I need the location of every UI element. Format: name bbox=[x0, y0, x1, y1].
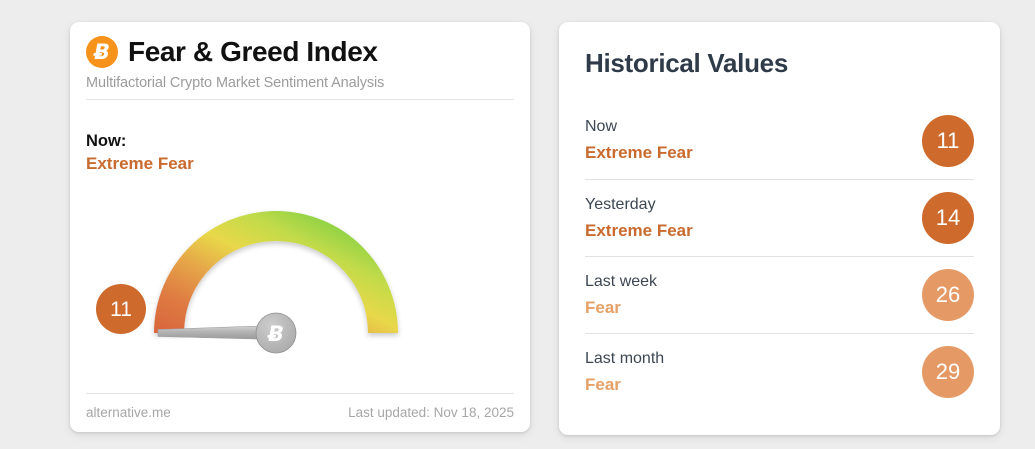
historical-row: Last weekFear26 bbox=[585, 256, 974, 333]
footer-divider bbox=[86, 393, 514, 394]
historical-row-value-badge: 26 bbox=[922, 269, 974, 321]
footer-row: alternative.me Last updated: Nov 18, 202… bbox=[86, 405, 514, 420]
last-updated-text: Last updated: Nov 18, 2025 bbox=[348, 405, 514, 420]
gauge-hub-bitcoin-icon: Ƀ bbox=[256, 313, 296, 353]
now-label: Now: bbox=[86, 130, 194, 152]
gauge-card-footer: alternative.me Last updated: Nov 18, 202… bbox=[86, 393, 514, 420]
historical-row-value-badge: 14 bbox=[922, 192, 974, 244]
gauge-value-badge: 11 bbox=[96, 284, 146, 334]
bitcoin-glyph: Ƀ bbox=[94, 42, 110, 63]
source-link[interactable]: alternative.me bbox=[86, 405, 171, 420]
current-value-block: Now: Extreme Fear bbox=[86, 130, 194, 176]
gauge-visual: Ƀ 11 bbox=[70, 172, 530, 397]
fear-greed-gauge-card: Ƀ Fear & Greed Index Multifactorial Cryp… bbox=[70, 22, 530, 432]
page-title: Fear & Greed Index bbox=[128, 37, 378, 66]
gauge-card-header: Ƀ Fear & Greed Index Multifactorial Cryp… bbox=[86, 36, 514, 100]
historical-row: YesterdayExtreme Fear14 bbox=[585, 179, 974, 256]
gauge-arc-svg: Ƀ bbox=[70, 172, 530, 397]
bitcoin-logo-icon: Ƀ bbox=[86, 36, 118, 68]
historical-values-title: Historical Values bbox=[585, 48, 788, 79]
page-root: Ƀ Fear & Greed Index Multifactorial Cryp… bbox=[0, 0, 1035, 449]
historical-row-value-text: 11 bbox=[937, 130, 960, 152]
gauge-value-text: 11 bbox=[110, 299, 132, 320]
title-row: Ƀ Fear & Greed Index bbox=[86, 36, 514, 68]
historical-row-sentiment: Extreme Fear bbox=[585, 140, 974, 166]
historical-row-period: Last month bbox=[585, 346, 974, 372]
historical-row-sentiment: Extreme Fear bbox=[585, 218, 974, 244]
historical-values-card: Historical Values NowExtreme Fear11Yeste… bbox=[559, 22, 1000, 435]
historical-row-period: Last week bbox=[585, 269, 974, 295]
historical-row-sentiment: Fear bbox=[585, 295, 974, 321]
historical-row-value-text: 26 bbox=[936, 284, 960, 306]
historical-row-value-text: 29 bbox=[936, 361, 960, 383]
historical-row-value-badge: 11 bbox=[922, 115, 974, 167]
historical-row-sentiment: Fear bbox=[585, 372, 974, 398]
historical-row: Last monthFear29 bbox=[585, 333, 974, 410]
header-divider bbox=[86, 99, 514, 100]
page-subtitle: Multifactorial Crypto Market Sentiment A… bbox=[86, 75, 514, 91]
historical-values-list: NowExtreme Fear11YesterdayExtreme Fear14… bbox=[585, 102, 974, 410]
historical-row-period: Now bbox=[585, 114, 974, 140]
historical-row-period: Yesterday bbox=[585, 192, 974, 218]
historical-row: NowExtreme Fear11 bbox=[585, 102, 974, 179]
svg-text:Ƀ: Ƀ bbox=[267, 322, 284, 346]
historical-row-value-text: 14 bbox=[936, 207, 960, 229]
historical-row-value-badge: 29 bbox=[922, 346, 974, 398]
